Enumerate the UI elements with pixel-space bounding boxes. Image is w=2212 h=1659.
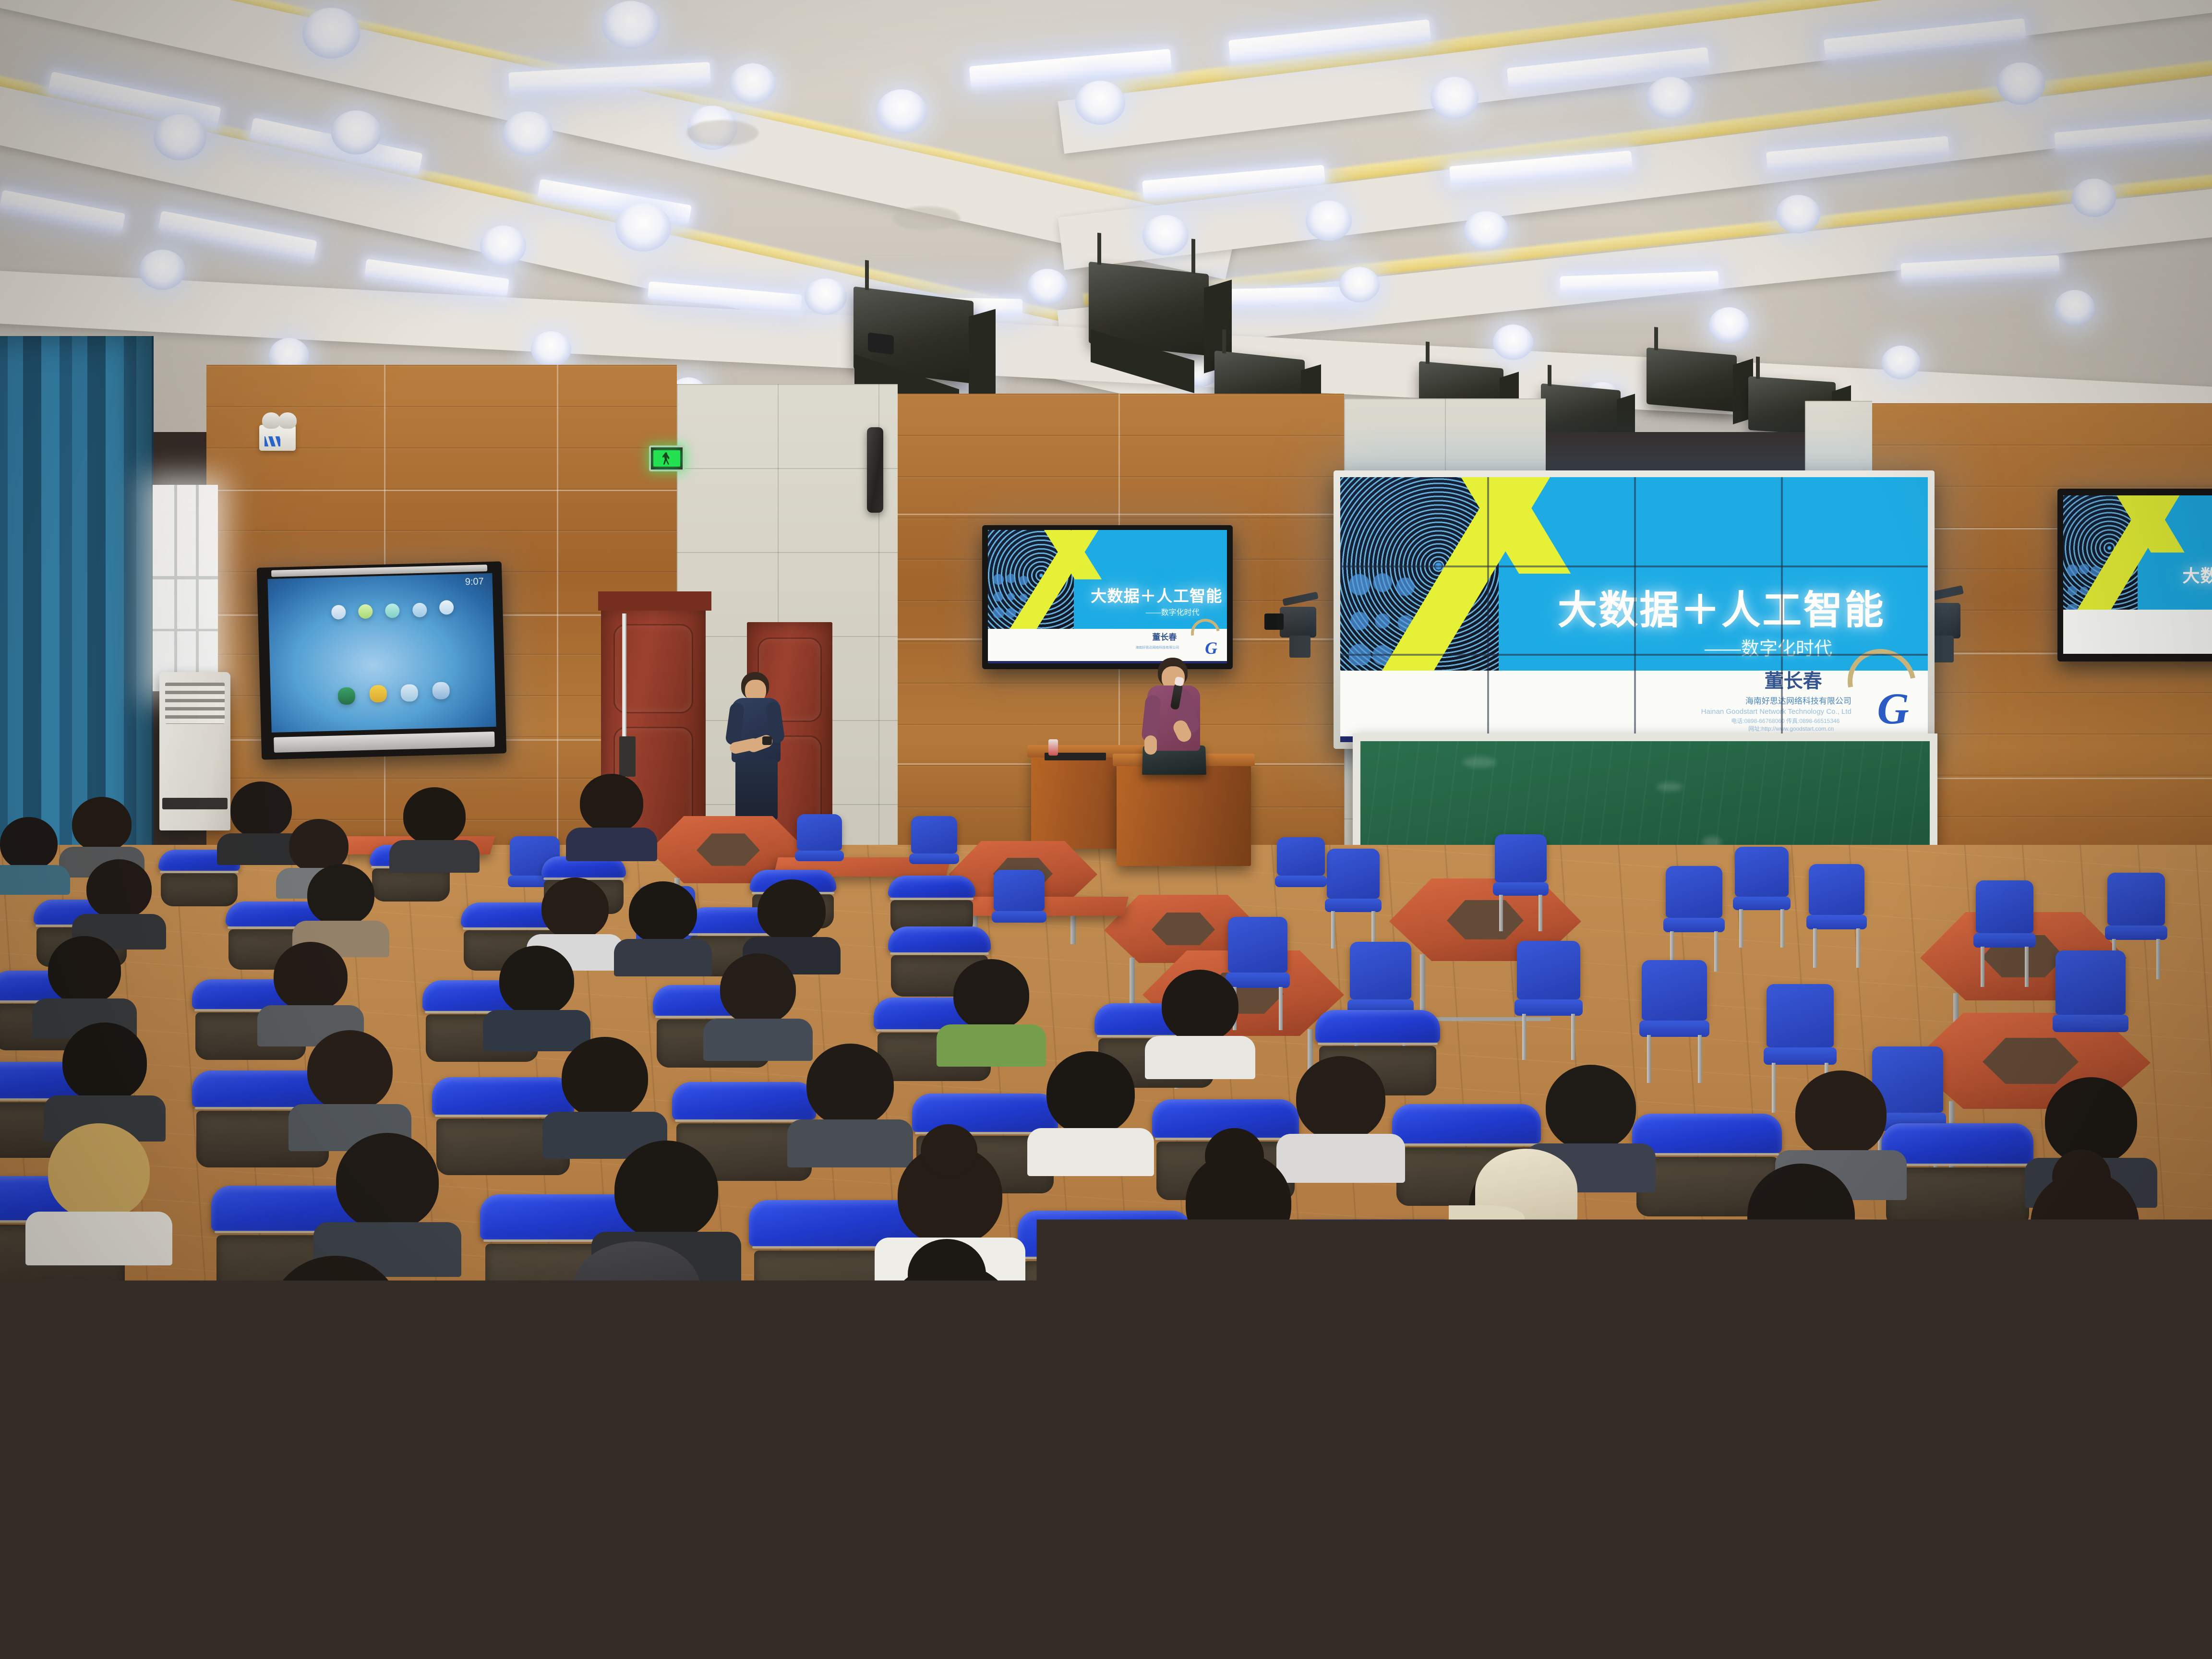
attendee [2031,1171,2139,1308]
settings-dock-icon[interactable] [432,682,450,699]
downlight [480,226,526,266]
downlight [1142,215,1189,255]
stacking-chair[interactable] [1327,849,1380,926]
attendee [336,1133,439,1262]
slide-website: 网址:http://www.goodstart.com.cn [1748,724,1834,733]
exit-sign [649,445,685,471]
slide-presenter: 董长春 [1152,630,1177,642]
whiteboard-icon[interactable] [338,687,356,705]
attendee [1358,1411,1520,1617]
air-conditioner[interactable] [159,672,230,830]
downlight [2055,290,2095,325]
attendee [403,787,466,863]
slide-right: 大数据＋人工智能 [2063,495,2212,654]
ceiling-projector [1647,348,1737,412]
downlight [139,250,185,290]
wristwatch [762,736,772,745]
downlight [154,114,206,160]
attendee [953,959,1029,1053]
files-icon[interactable] [412,602,427,617]
downlight [1709,307,1749,343]
water-bottle[interactable] [72,1599,115,1659]
stacking-chair[interactable] [797,814,842,870]
attendee [1046,1051,1135,1161]
slide-presenter: 董长春 [1765,665,1822,693]
attendee-cap [1469,1157,1575,1290]
attendee [720,953,796,1047]
slide-title: 大数据＋人工智能 [1558,578,1885,635]
tile-seam [1634,477,1636,742]
window [153,485,218,691]
stacking-chair[interactable] [1495,834,1547,910]
attendee [62,1022,147,1128]
attendee [1512,1280,1649,1452]
downlight [1431,77,1479,119]
downlight [1339,267,1380,302]
attendee [1008,1382,1168,1586]
attendee [48,936,121,1027]
slide-org-cn: 海南好思达网络科技有限公司 [1745,694,1851,706]
stacking-chair[interactable] [2107,873,2165,954]
stacking-chair[interactable] [1277,837,1325,896]
settings-icon[interactable] [331,605,346,620]
speaker-at-podium [1127,658,1218,802]
attendee [307,1030,393,1137]
video-wall-frame: 大数据＋人工智能 ——数字化时代 董长春 海南好思达网络科技有限公司 Haina… [1334,470,1935,749]
downlight [1027,269,1068,304]
lecture-hall-scene: 9:07 大数据＋人工智能 ——数字化时代 董长春 海南好思达网络科技有限公司 [0,0,2212,1659]
tile-seam [1340,654,1928,656]
interactive-flat-panel[interactable]: 9:07 [257,561,506,759]
stacking-chair[interactable] [1735,847,1789,924]
tile-seam [1487,477,1489,742]
led-panel [158,211,317,260]
door-latch[interactable] [619,736,636,777]
emergency-light [259,425,296,451]
downlight [1464,211,1508,250]
baseball-cap [1475,1149,1577,1231]
confidence-monitor-left: 大数据＋人工智能 ——数字化时代 董长春 海南好思达网络科技有限公司 G [982,525,1233,669]
stacking-chair[interactable] [911,816,957,873]
attendee [580,774,643,852]
stacking-chair[interactable] [1666,866,1722,947]
attendee [806,1044,894,1152]
attendee [0,817,58,888]
downlight [1075,81,1125,125]
downlight [1776,195,1820,233]
attendee [2055,1431,2212,1638]
downlight [1997,62,2045,105]
ceiling-projector [1541,384,1621,432]
attendee [883,1262,1019,1431]
stacking-chair[interactable] [2056,950,2126,1050]
slide-contact: 电话:0898-66768060 传真:0898-66515346 [1731,717,1839,725]
ifp-bottom-bar[interactable] [274,732,495,753]
attendee [629,881,697,965]
downlight [1306,201,1352,241]
slide-org-cn: 海南好思达网络科技有限公司 [1135,645,1179,650]
attendee [86,859,152,940]
attendee [274,942,348,1034]
attendee [757,879,826,963]
attendee [1296,1056,1385,1166]
slide-subtitle: ——数字化时代 [1705,634,1832,660]
audience-seat[interactable] [0,1306,149,1450]
attendee [1162,970,1238,1066]
stacking-chair[interactable] [1642,960,1707,1054]
slide-org-en: Hainan Goodstart Network Technology Co.,… [1701,708,1851,716]
attendee [562,1037,648,1144]
attendee [499,946,574,1039]
downlight [615,204,671,252]
led-panel [364,259,509,296]
wall-camera-left [1265,591,1328,659]
ceiling-projector [854,287,974,384]
downlight [730,63,776,104]
attendee [1186,1152,1291,1285]
attendee [1200,1272,1336,1443]
stacking-chair[interactable] [1809,864,1864,944]
tile-seam [1781,477,1783,742]
gallery-icon[interactable] [369,685,387,703]
stacking-chair[interactable] [994,870,1045,932]
media-icon[interactable] [439,600,454,615]
baseball-cap [572,1241,701,1339]
ceiling-projector [1089,262,1209,356]
attendee [365,1517,557,1659]
notes-icon[interactable] [358,604,373,619]
downlight [1493,325,1533,360]
slide-subtitle: ——数字化时代 [1146,606,1200,617]
slide-title: 大数据＋人工智能 [1091,583,1223,606]
attendee [1747,1164,1855,1299]
attendee [230,781,292,856]
tile-seam [1340,565,1928,567]
downlight [331,110,381,155]
stacking-chair[interactable] [1517,941,1580,1032]
downlight [877,89,926,133]
video-wall-slide: 大数据＋人工智能 ——数字化时代 董长春 海南好思达网络科技有限公司 Haina… [1340,477,1928,742]
camera-icon[interactable] [401,684,419,702]
wall-speaker [867,427,883,513]
downlight [602,1,660,49]
ifp-screen[interactable]: 9:07 [267,573,496,733]
attendee [307,864,374,947]
downlight [1882,346,1920,379]
stacking-chair[interactable] [1976,880,2033,962]
browser-icon[interactable] [385,603,400,618]
water-bottle[interactable] [1048,739,1058,756]
attendee-blond [48,1123,150,1251]
confidence-monitor-right: 大数据＋人工智能 [2057,489,2212,661]
downlight [805,278,847,315]
downlight [2072,179,2116,217]
slide-left: 大数据＋人工智能 ——数字化时代 董长春 海南好思达网络科技有限公司 G [988,530,1227,663]
attendee [72,797,132,869]
downlight [503,111,553,156]
downlight [1647,77,1695,119]
attendee [1709,1416,1871,1623]
attendee [269,1256,402,1423]
stacking-chair[interactable] [1767,984,1834,1082]
led-panel [0,190,125,232]
downlight [302,8,360,59]
ifp-clock: 9:07 [465,576,484,588]
downlight [531,331,571,367]
staff-checking-watch [718,672,800,830]
slide-title: 大数据＋人工智能 [2182,562,2212,587]
